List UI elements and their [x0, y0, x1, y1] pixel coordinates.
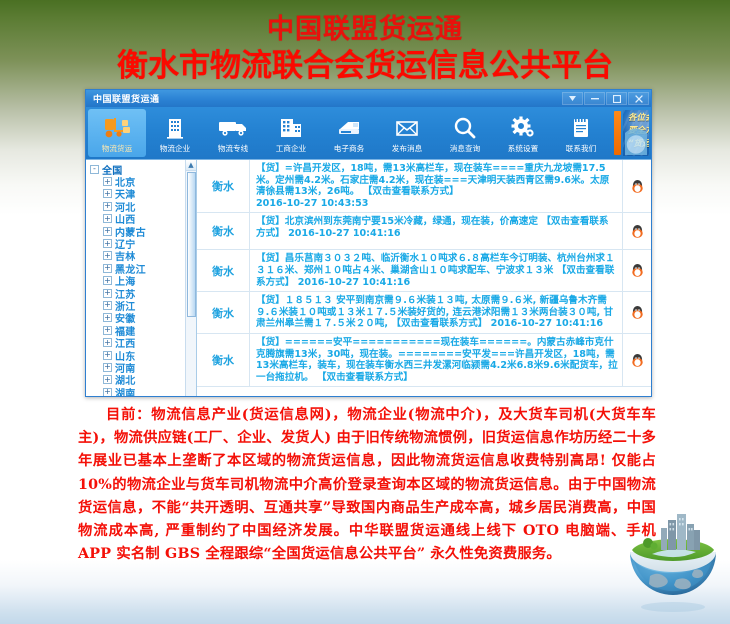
window-title-text: 中国联盟货运通	[93, 92, 160, 105]
toolbar-label: 工商企业	[276, 143, 306, 153]
scrollbar-thumb[interactable]	[187, 172, 196, 317]
tree-toggle-icon[interactable]: +	[103, 388, 112, 396]
row-message-text: 【货】======安平===========现在装车======。内蒙古赤峰市克…	[250, 334, 622, 386]
tree-toggle-icon[interactable]: +	[103, 375, 112, 384]
tree-toggle-icon[interactable]: +	[103, 326, 112, 335]
envelope-icon	[392, 114, 422, 142]
qq-icon[interactable]	[631, 353, 644, 368]
qq-contact-cell[interactable]	[622, 292, 651, 333]
row-region-label: 衡水	[197, 334, 250, 386]
qq-contact-cell[interactable]	[622, 160, 651, 212]
tree-toggle-icon[interactable]: +	[103, 313, 112, 322]
tree-toggle-icon[interactable]: +	[103, 338, 112, 347]
row-region-label: 衡水	[197, 292, 250, 333]
toolbar-item-message-query[interactable]: 消息查询	[436, 107, 494, 159]
tree-toggle-icon[interactable]: +	[103, 251, 112, 260]
tree-item-label: 湖南	[115, 385, 136, 396]
tree-item-province[interactable]: + 湖南	[90, 386, 196, 396]
scroll-up-icon[interactable]: ▲	[186, 160, 196, 171]
maximize-icon[interactable]	[606, 92, 627, 105]
tree-toggle-icon[interactable]: +	[103, 202, 112, 211]
toolbar: 物流货运 物流企业	[86, 107, 651, 159]
qq-contact-cell[interactable]	[622, 334, 651, 386]
tree-item-province[interactable]: + 浙江	[90, 299, 196, 311]
page-title: 中国联盟货运通 衡水市物流联合会货运信息公共平台	[0, 14, 730, 85]
toolbar-label: 系统设置	[508, 143, 538, 153]
search-icon	[451, 114, 479, 142]
tree-item-national[interactable]: - 全国	[90, 163, 196, 175]
tree-toggle-icon[interactable]: +	[103, 264, 112, 273]
tree-toggle-icon[interactable]: +	[103, 214, 112, 223]
toolbar-item-publish-message[interactable]: 发布消息	[378, 107, 436, 159]
toolbar-label: 物流专线	[218, 143, 248, 153]
tree-toggle-icon[interactable]: +	[103, 289, 112, 298]
region-tree: - 全国 + 北京 + 天津 + 河北 + 山西	[86, 160, 196, 396]
toolbar-label: 消息查询	[450, 143, 480, 153]
table-row[interactable]: 衡水 【货】１８５１３ 安平到南京需９.６米装１３吨, 太原需９.６米, 新疆乌…	[197, 292, 651, 334]
tree-item-province[interactable]: + 江西	[90, 336, 196, 348]
row-timestamp: 2016-10-27 10:41:16	[288, 228, 400, 239]
row-message-text: 【货】北京滨州到东莞南宁要15米冷藏，绿通，现在装，价高速定 【双击查看联系方式…	[250, 213, 622, 249]
minimize-icon[interactable]	[584, 92, 605, 105]
toolbar-item-contact-us[interactable]: 联系我们	[552, 107, 610, 159]
banner-line-1: 各位会员	[628, 112, 649, 125]
toolbar-item-ecommerce[interactable]: 电子商务	[320, 107, 378, 159]
table-row[interactable]: 衡水 【货】北京滨州到东莞南宁要15米冷藏，绿通，现在装，价高速定 【双击查看联…	[197, 213, 651, 250]
ecommerce-icon	[334, 114, 364, 142]
qq-icon[interactable]	[631, 224, 644, 239]
qq-icon[interactable]	[631, 305, 644, 320]
toolbar-label: 电子商务	[334, 143, 364, 153]
toolbar-item-logistics-freight[interactable]: 物流货运	[88, 109, 146, 157]
gear-icon	[508, 114, 538, 142]
qq-contact-cell[interactable]	[622, 213, 651, 249]
promo-paragraph: 目前：物流信息产业(货运信息网)，物流企业(物流中介)，及大货车司机(大货车车主…	[78, 404, 656, 566]
banner-globe-icon	[625, 125, 647, 155]
qq-icon[interactable]	[631, 179, 644, 194]
toolbar-item-logistics-company[interactable]: 物流企业	[146, 107, 204, 159]
tree-item-province[interactable]: + 辽宁	[90, 237, 196, 249]
row-timestamp: 2016-10-27 10:41:16	[298, 277, 410, 288]
tree-item-province[interactable]: + 山东	[90, 349, 196, 361]
tree-toggle-icon[interactable]: +	[103, 276, 112, 285]
tree-toggle-icon[interactable]: +	[103, 363, 112, 372]
tree-item-province[interactable]: + 湖北	[90, 374, 196, 386]
window-controls	[562, 92, 649, 105]
forklift-icon	[102, 114, 132, 142]
toolbar-label: 联系我们	[566, 143, 596, 153]
tree-scrollbar[interactable]: ▲	[185, 160, 196, 396]
application-window: 中国联盟货运通	[85, 89, 652, 397]
row-timestamp: 2016-10-27 10:41:16	[491, 318, 603, 329]
tree-item-province[interactable]: + 黑龙江	[90, 262, 196, 274]
region-tree-panel: - 全国 + 北京 + 天津 + 河北 + 山西	[86, 160, 197, 396]
document-icon	[568, 114, 594, 142]
window-titlebar[interactable]: 中国联盟货运通	[86, 90, 651, 107]
toolbar-divider	[614, 111, 621, 155]
qq-contact-cell[interactable]	[622, 250, 651, 291]
title-line-1: 中国联盟货运通	[0, 14, 730, 46]
row-message-body: 【货】======安平===========现在装车======。内蒙古赤峰市克…	[256, 337, 618, 383]
promo-banner[interactable]: 各位会员 要全方位测试 “货运通”功能!	[623, 110, 649, 156]
tree-item-province[interactable]: + 内蒙古	[90, 225, 196, 237]
toolbar-item-system-settings[interactable]: 系统设置	[494, 107, 552, 159]
row-message-body: 【货】=许昌开发区，18吨，需13米高栏车，现在装车====重庆九龙坡需17.5…	[256, 163, 609, 197]
toolbar-item-industry-commerce[interactable]: 工商企业	[262, 107, 320, 159]
tree-toggle-icon[interactable]: +	[103, 189, 112, 198]
row-region-label: 衡水	[197, 213, 250, 249]
row-region-label: 衡水	[197, 160, 250, 212]
tree-item-province[interactable]: + 安徽	[90, 312, 196, 324]
table-row[interactable]: 衡水 【货】=许昌开发区，18吨，需13米高栏车，现在装车====重庆九龙坡需1…	[197, 160, 651, 213]
tree-item-province[interactable]: + 天津	[90, 188, 196, 200]
table-row[interactable]: 衡水 【货】昌乐莒南３０３２吨、临沂衡水１０吨求６.８高栏车今订明装、杭州台州求…	[197, 250, 651, 292]
tree-item-province[interactable]: + 河北	[90, 200, 196, 212]
office-building-icon	[276, 114, 306, 142]
qq-icon[interactable]	[631, 263, 644, 278]
toolbar-label: 物流货运	[102, 143, 132, 153]
table-row[interactable]: 衡水 【货】======安平===========现在装车======。内蒙古赤…	[197, 334, 651, 387]
row-message-text: 【货】=许昌开发区，18吨，需13米高栏车，现在装车====重庆九龙坡需17.5…	[250, 160, 622, 212]
tree-toggle-icon[interactable]: +	[103, 227, 112, 236]
row-region-label: 衡水	[197, 250, 250, 291]
row-timestamp: 2016-10-27 10:43:53	[256, 198, 368, 209]
toolbar-label: 发布消息	[392, 143, 422, 153]
close-icon[interactable]	[628, 92, 649, 105]
tree-toggle-icon[interactable]: +	[103, 239, 112, 248]
tree-item-province[interactable]: + 上海	[90, 275, 196, 287]
tree-toggle-icon[interactable]: +	[103, 351, 112, 360]
truck-icon	[217, 114, 249, 142]
row-message-text: 【货】１８５１３ 安平到南京需９.６米装１３吨, 太原需９.６米, 新疆乌鲁木齐…	[250, 292, 622, 333]
dropdown-icon[interactable]	[562, 92, 583, 105]
row-message-text: 【货】昌乐莒南３０３２吨、临沂衡水１０吨求６.８高栏车今订明装、杭州台州求１３１…	[250, 250, 622, 291]
tree-item-province[interactable]: + 河南	[90, 361, 196, 373]
tree-item-province[interactable]: + 北京	[90, 175, 196, 187]
building-icon	[161, 114, 189, 142]
tree-item-province[interactable]: + 福建	[90, 324, 196, 336]
toolbar-item-logistics-line[interactable]: 物流专线	[204, 107, 262, 159]
toolbar-label: 物流企业	[160, 143, 190, 153]
window-body: - 全国 + 北京 + 天津 + 河北 + 山西	[86, 159, 651, 396]
tree-toggle-icon[interactable]: +	[103, 177, 112, 186]
tree-toggle-icon[interactable]: +	[103, 301, 112, 310]
title-line-2: 衡水市物流联合会货运信息公共平台	[0, 47, 730, 85]
tree-toggle-icon[interactable]: -	[90, 165, 99, 174]
freight-message-list: 衡水 【货】=许昌开发区，18吨，需13米高栏车，现在装车====重庆九龙坡需1…	[197, 160, 651, 396]
tree-item-province[interactable]: + 江苏	[90, 287, 196, 299]
